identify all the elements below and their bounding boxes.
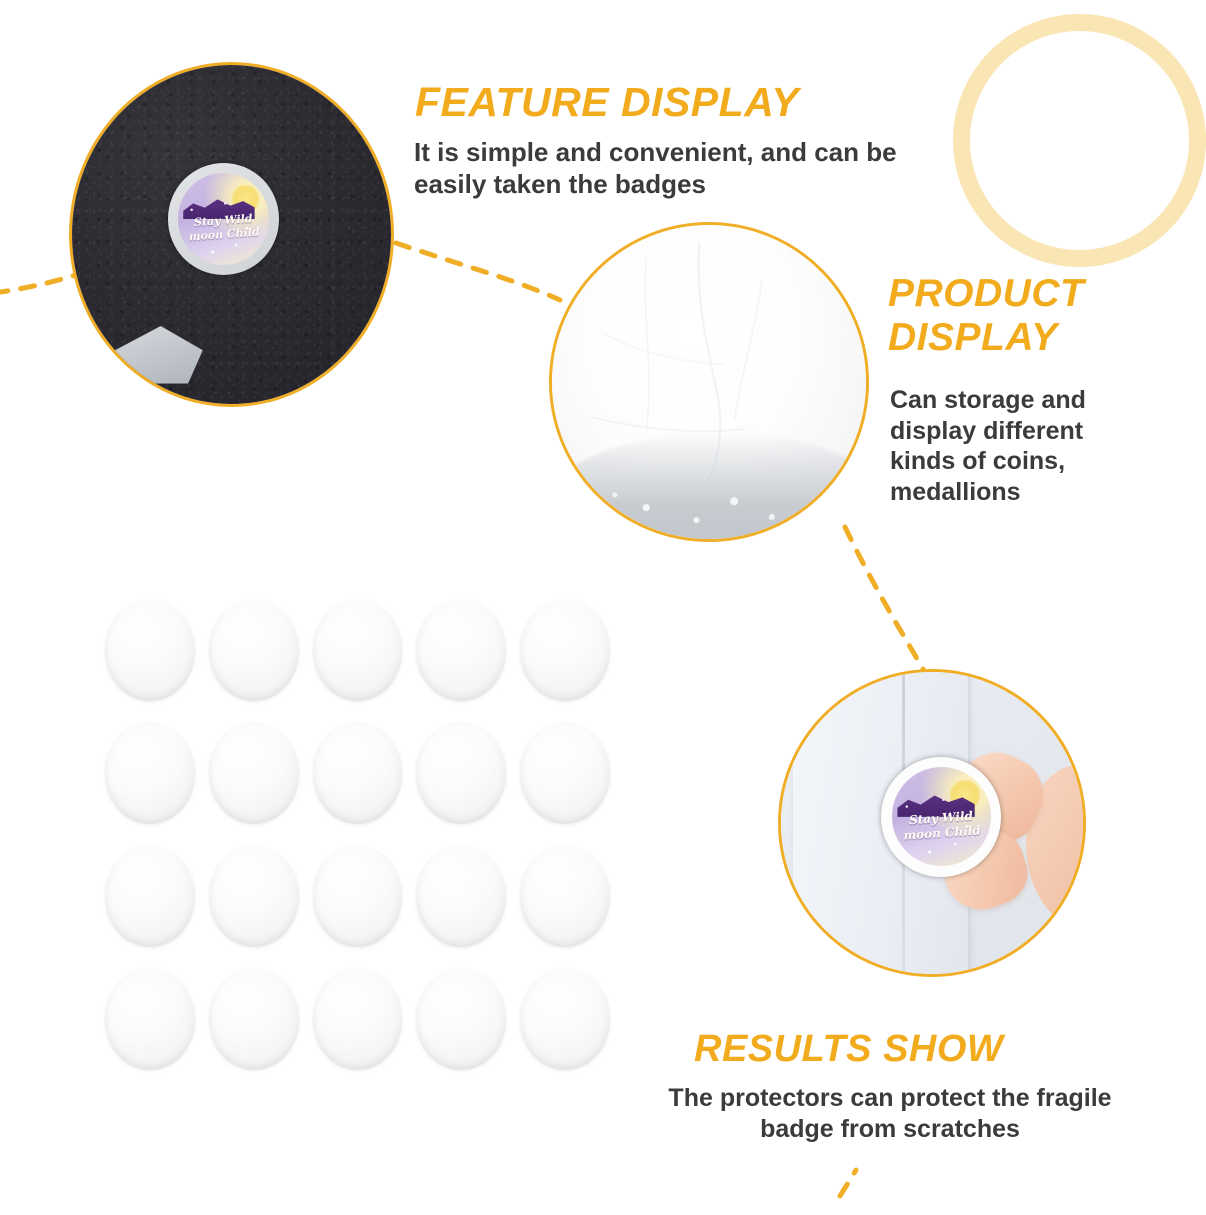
badge-artwork: Stay Wild moon Child	[892, 767, 991, 866]
protector-disc	[209, 600, 299, 701]
protector-disc	[209, 846, 299, 947]
protector-disc	[105, 846, 195, 947]
protector-disc	[209, 969, 299, 1070]
product-body: Can storage and display different kinds …	[890, 385, 1160, 507]
protector-disc	[209, 723, 299, 824]
protector-disc	[313, 600, 403, 701]
protector-disc	[520, 846, 610, 947]
protector-disc	[416, 846, 506, 947]
protector-disc	[105, 969, 195, 1070]
badge-sticker: Stay Wild moon Child	[168, 163, 280, 275]
results-heading: RESULTS SHOW	[694, 1028, 1003, 1071]
protector-disc	[313, 723, 403, 824]
macro-bubbles	[552, 225, 866, 539]
feature-photo-circle: Stay Wild moon Child	[69, 62, 394, 407]
protector-disc	[416, 600, 506, 701]
results-photo-circle: Stay Wild moon Child	[778, 669, 1086, 977]
badge-sticker-applied: Stay Wild moon Child	[881, 757, 1002, 878]
protector-grid	[105, 600, 610, 1070]
protector-disc	[416, 969, 506, 1070]
feature-heading: FEATURE DISPLAY	[415, 80, 799, 126]
product-photo-circle	[549, 222, 869, 542]
protector-disc	[313, 846, 403, 947]
protector-disc	[520, 969, 610, 1070]
protector-disc	[520, 723, 610, 824]
feature-body: It is simple and convenient, and can be …	[414, 137, 1034, 200]
stars-icon	[178, 173, 270, 265]
protector-disc	[105, 723, 195, 824]
protector-disc	[105, 600, 195, 701]
protector-disc	[520, 600, 610, 701]
protector-disc	[313, 969, 403, 1070]
results-body: The protectors can protect the fragile b…	[605, 1083, 1175, 1144]
stars-icon	[892, 767, 991, 866]
badge-artwork: Stay Wild moon Child	[178, 173, 270, 265]
infographic-page: Stay Wild moon Child	[0, 0, 1206, 1215]
protector-disc	[416, 723, 506, 824]
product-heading: PRODUCT DISPLAY	[888, 272, 1084, 359]
